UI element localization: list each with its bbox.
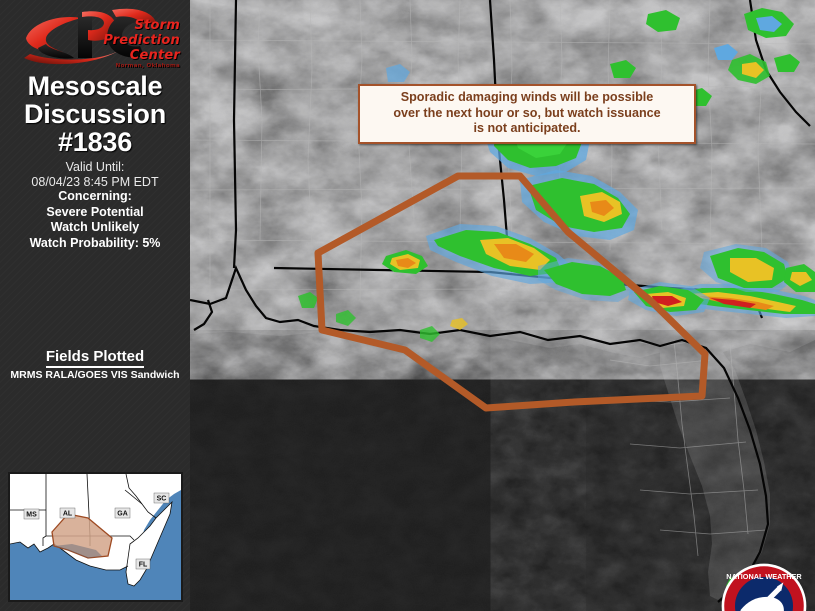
valid-until-label: Valid Until: <box>0 160 190 175</box>
annotation-textbox: Sporadic damaging winds will be possible… <box>358 84 696 144</box>
locator-inset-map: MS AL GA SC FL <box>8 472 183 602</box>
info-sidebar: Storm Prediction Center Norman, Oklahoma… <box>0 0 190 611</box>
valid-until-block: Valid Until: 08/04/23 8:45 PM EDT <box>0 160 190 190</box>
satellite-radar-map[interactable]: Sporadic damaging winds will be possible… <box>190 0 815 611</box>
title-line-3: #1836 <box>0 128 190 156</box>
inset-label-al: AL <box>63 511 73 518</box>
logo-line-center: Center <box>130 48 180 63</box>
page-title: Mesoscale Discussion #1836 <box>0 72 190 156</box>
nws-logo-icon: NATIONAL WEATHER SERVICE <box>721 563 807 611</box>
valid-until-time: 08/04/23 8:45 PM EDT <box>0 175 190 190</box>
locator-inset-svg: MS AL GA SC FL <box>10 474 181 600</box>
fields-plotted-heading-text: Fields Plotted <box>46 348 144 368</box>
inset-label-fl: FL <box>139 562 148 569</box>
logo-line-city: Norman, Oklahoma <box>116 63 180 69</box>
annotation-line-1: Sporadic damaging winds will be possible <box>366 90 688 106</box>
annotation-line-2: over the next hour or so, but watch issu… <box>366 106 688 122</box>
annotation-line-3: is not anticipated. <box>366 121 688 137</box>
watch-probability: Watch Probability: 5% <box>0 236 190 252</box>
fields-plotted-heading: Fields Plotted <box>0 348 190 365</box>
concerning-value: Severe Potential <box>0 205 190 221</box>
concerning-block: Concerning: Severe Potential Watch Unlik… <box>0 189 190 251</box>
fields-plotted-subtitle: MRMS RALA/GOES VIS Sandwich <box>0 369 190 381</box>
logo-line-storm: Storm <box>135 18 180 33</box>
title-line-2: Discussion <box>0 100 190 128</box>
title-line-1: Mesoscale <box>0 72 190 100</box>
spc-logo: Storm Prediction Center Norman, Oklahoma <box>16 6 182 72</box>
watch-status: Watch Unlikely <box>0 220 190 236</box>
spc-mesoscale-discussion-graphic: Storm Prediction Center Norman, Oklahoma… <box>0 0 815 611</box>
svg-text:NATIONAL WEATHER: NATIONAL WEATHER <box>726 572 802 581</box>
inset-label-sc: SC <box>157 496 167 503</box>
inset-label-ms: MS <box>26 512 37 519</box>
concerning-label: Concerning: <box>0 189 190 205</box>
nws-logo: NATIONAL WEATHER SERVICE <box>767 563 807 603</box>
inset-label-ga: GA <box>117 511 128 518</box>
agency-logos: NOAA NATIONAL WEATHER SERVICE <box>721 563 807 603</box>
logo-line-prediction: Prediction <box>103 33 180 48</box>
